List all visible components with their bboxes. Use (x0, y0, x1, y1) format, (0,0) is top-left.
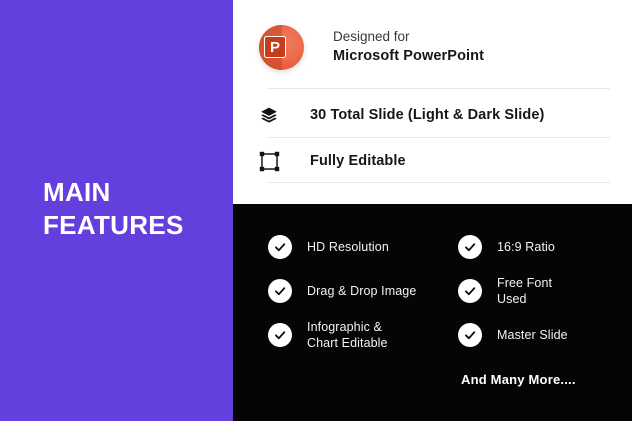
feature-row-fully-editable: Fully Editable (259, 146, 609, 176)
page-title-line-2: FEATURES (43, 209, 184, 242)
feature-label-fully-editable: Fully Editable (310, 153, 406, 169)
divider (267, 137, 610, 138)
check-icon (458, 323, 482, 347)
check-item-master-slide: Master Slide (458, 314, 613, 356)
check-icon (268, 279, 292, 303)
check-label-infographic-chart: Infographic & Chart Editable (307, 319, 388, 351)
check-feature-grid: HD Resolution 16:9 Ratio (268, 226, 613, 356)
check-label-free-font: Free Font Used (497, 275, 552, 307)
slide-canvas: MAIN FEATURES P Designed for Microsoft P… (0, 0, 632, 421)
divider (267, 182, 610, 183)
feature-row-total-slides: 30 Total Slide (Light & Dark Slide) (259, 100, 609, 130)
layers-icon (259, 102, 289, 128)
check-item-ratio: 16:9 Ratio (458, 226, 613, 268)
left-purple-panel: MAIN FEATURES (0, 0, 233, 421)
powerpoint-icon-letter: P (264, 36, 286, 58)
powerpoint-icon: P (259, 25, 304, 70)
check-item-hd-resolution: HD Resolution (268, 226, 458, 268)
designed-for-product: Microsoft PowerPoint (333, 46, 484, 67)
check-icon (268, 323, 292, 347)
designed-for-row: P Designed for Microsoft PowerPoint (259, 22, 609, 72)
check-label-master-slide: Master Slide (497, 327, 568, 343)
check-item-drag-drop-image: Drag & Drop Image (268, 270, 458, 312)
divider (267, 88, 610, 89)
bounding-box-icon (259, 148, 289, 174)
check-icon (458, 279, 482, 303)
check-item-free-font: Free Font Used (458, 270, 613, 312)
check-label-ratio: 16:9 Ratio (497, 239, 555, 255)
and-many-more-label: And Many More.... (461, 372, 576, 387)
designed-for-text: Designed for Microsoft PowerPoint (333, 27, 484, 67)
designed-for-label: Designed for (333, 27, 484, 46)
check-icon (268, 235, 292, 259)
check-icon (458, 235, 482, 259)
feature-label-total-slides: 30 Total Slide (Light & Dark Slide) (310, 107, 544, 123)
check-label-drag-drop-image: Drag & Drop Image (307, 283, 416, 299)
black-features-panel: HD Resolution 16:9 Ratio (233, 204, 632, 421)
white-info-panel: P Designed for Microsoft PowerPoint 30 T… (233, 0, 632, 204)
check-item-infographic-chart: Infographic & Chart Editable (268, 314, 458, 356)
check-label-hd-resolution: HD Resolution (307, 239, 389, 255)
page-title: MAIN FEATURES (43, 176, 184, 242)
page-title-line-1: MAIN (43, 176, 184, 209)
